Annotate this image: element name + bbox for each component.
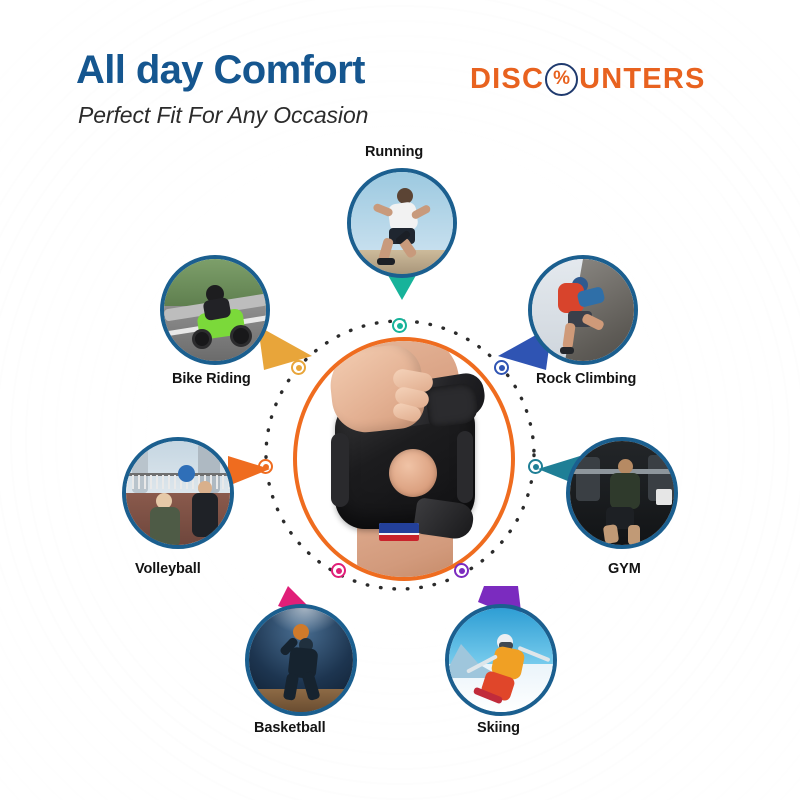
logo-text-before: DISC (470, 65, 544, 94)
logo-text-after: UNTERS (579, 65, 705, 94)
category-photo-running[interactable] (347, 168, 457, 278)
category-photo-skiing[interactable] (445, 604, 557, 716)
basketball-icon (249, 608, 353, 712)
category-photo-basketball[interactable] (245, 604, 357, 716)
category-label-volleyball: Volleyball (135, 562, 201, 577)
page-subtitle: Perfect Fit For Any Occasion (78, 104, 368, 127)
product-image-ring (293, 337, 515, 581)
hub-node-running (392, 318, 407, 333)
category-photo-volleyball[interactable] (122, 437, 234, 549)
pointer-volleyball (228, 452, 270, 486)
pointer-bike-riding (258, 326, 312, 370)
category-photo-bike-riding[interactable] (160, 255, 270, 365)
hub-node-skiing (454, 563, 469, 578)
category-label-skiing: Skiing (477, 721, 520, 736)
brace-left-stay (331, 433, 349, 507)
brace-patella-opening (389, 449, 437, 497)
category-label-running: Running (365, 145, 423, 160)
header: All day Comfort Perfect Fit For Any Occa… (0, 0, 800, 140)
category-label-basketball: Basketball (254, 721, 326, 736)
dumbbell-icon (570, 441, 674, 545)
brand-logo[interactable]: DISC % UNTERS (470, 62, 706, 96)
climber-icon (532, 259, 634, 361)
logo-percent-symbol: % (553, 69, 570, 88)
hub-node-basketball (331, 563, 346, 578)
category-photo-rock-climbing[interactable] (528, 255, 638, 365)
brace-right-stay (457, 431, 473, 503)
motorcycle-icon (164, 259, 266, 361)
category-label-gym: GYM (608, 562, 641, 577)
infographic-poster: All day Comfort Perfect Fit For Any Occa… (0, 0, 800, 800)
page-title: All day Comfort (76, 50, 365, 90)
product-brand-tag (379, 523, 419, 541)
skier-icon (449, 608, 553, 712)
knee-brace-product-image (297, 341, 511, 577)
runner-icon (351, 172, 453, 274)
category-label-rock-climbing: Rock Climbing (536, 372, 636, 387)
category-photo-gym[interactable] (566, 437, 678, 549)
category-label-bike-riding: Bike Riding (172, 372, 251, 387)
percent-badge-icon: % (545, 63, 578, 96)
volleyball-icon (126, 441, 230, 545)
